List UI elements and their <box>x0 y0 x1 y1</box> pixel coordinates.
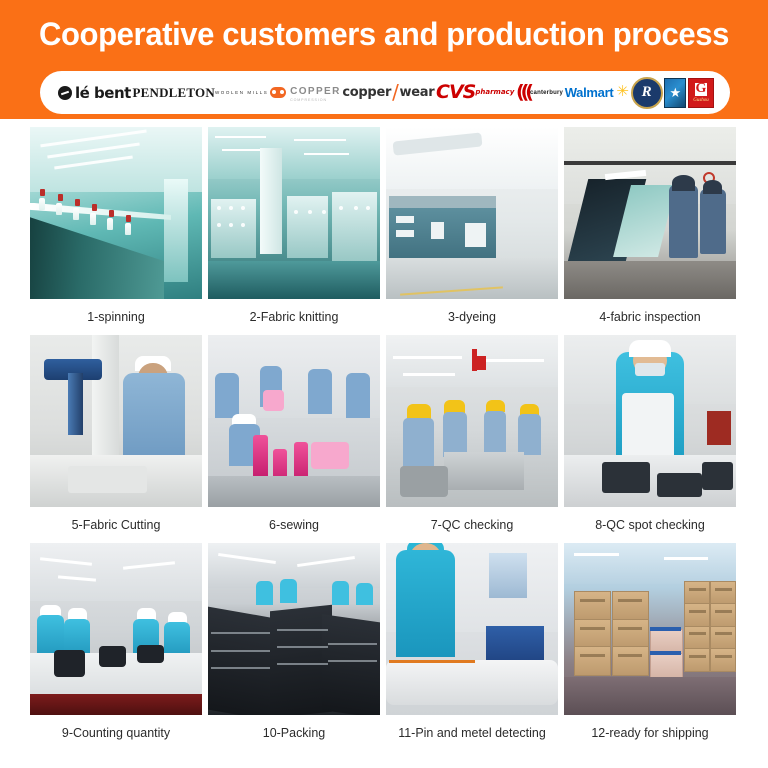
logo-copperwear[interactable]: copper / wear <box>342 77 434 109</box>
logo-cvs-pharmacy[interactable]: CVS pharmacy <box>436 77 514 109</box>
process-image-1[interactable] <box>30 127 202 299</box>
process-step-9: 9-Counting quantity <box>30 543 202 751</box>
process-step-7: 7-QC checking <box>386 335 558 543</box>
process-caption-5: 5-Fabric Cutting <box>33 507 198 543</box>
process-step-4: 4-fabric inspection <box>564 127 736 335</box>
process-step-8: 8-QC spot checking <box>564 335 736 543</box>
process-caption-10: 10-Packing <box>211 715 376 751</box>
process-caption-8: 8-QC spot checking <box>567 507 732 543</box>
walmart-spark-icon: ✳ <box>616 84 629 99</box>
logo-r-badge[interactable]: R <box>631 77 663 109</box>
logo-r-badge-label: R <box>642 84 652 101</box>
logo-lebent[interactable]: lé bent <box>58 77 131 109</box>
logo-copperwear-label-left: copper <box>342 85 391 100</box>
process-caption-3: 3-dyeing <box>389 299 554 335</box>
process-step-3: 3-dyeing <box>386 127 558 335</box>
process-image-12[interactable] <box>564 543 736 715</box>
logo-g-badge[interactable]: G Gushou <box>688 78 714 108</box>
process-step-10: 10-Packing <box>208 543 380 751</box>
process-step-11: 11-Pin and metel detecting <box>386 543 558 751</box>
logo-g-badge-sublabel: Gushou <box>693 98 709 103</box>
process-caption-9: 9-Counting quantity <box>33 715 198 751</box>
process-step-5: 5-Fabric Cutting <box>30 335 202 543</box>
process-image-8[interactable] <box>564 335 736 507</box>
logo-cvs-label: CVS <box>436 83 475 102</box>
logo-copper-label: COPPER <box>290 86 341 97</box>
process-caption-1: 1-spinning <box>33 299 198 335</box>
logo-walmart-label: Walmart <box>565 85 614 100</box>
process-step-1: 1-spinning <box>30 127 202 335</box>
page-title: Cooperative customers and production pro… <box>12 14 757 54</box>
process-caption-4: 4-fabric inspection <box>567 299 732 335</box>
process-image-2[interactable] <box>208 127 380 299</box>
logo-copper-sublabel: COMPRESSION <box>290 99 341 103</box>
copper-loop-icon <box>270 87 286 98</box>
process-caption-12: 12-ready for shipping <box>567 715 732 751</box>
process-image-11[interactable] <box>386 543 558 715</box>
process-image-5[interactable] <box>30 335 202 507</box>
process-image-9[interactable] <box>30 543 202 715</box>
process-step-12: 12-ready for shipping <box>564 543 736 751</box>
process-image-6[interactable] <box>208 335 380 507</box>
logo-g-badge-label: G <box>695 83 707 96</box>
logo-copper[interactable]: COPPER COMPRESSION <box>270 77 341 109</box>
process-caption-6: 6-sewing <box>211 507 376 543</box>
canterbury-chevrons-icon: ((( <box>516 83 530 102</box>
logo-pendleton[interactable]: PENDLETON WOOLEN MILLS <box>132 77 268 109</box>
logo-lebent-label: lé bent <box>75 84 131 102</box>
logo-copperwear-label-right: wear <box>400 85 435 100</box>
star-icon: ★ <box>670 86 682 99</box>
process-step-6: 6-sewing <box>208 335 380 543</box>
logo-copperwear-separator: / <box>392 80 398 104</box>
process-image-10[interactable] <box>208 543 380 715</box>
logo-pendleton-sublabel: WOOLEN MILLS <box>215 91 268 96</box>
logo-pendleton-label: PENDLETON <box>132 86 214 99</box>
process-caption-11: 11-Pin and metel detecting <box>389 715 554 751</box>
lebent-swoosh-icon <box>58 86 72 100</box>
process-image-7[interactable] <box>386 335 558 507</box>
process-image-4[interactable] <box>564 127 736 299</box>
logo-star-badge[interactable]: ★ <box>664 78 686 108</box>
customer-logo-bar: lé bent PENDLETON WOOLEN MILLS COPPER CO… <box>40 71 730 114</box>
logo-cvs-sublabel: pharmacy <box>475 89 514 96</box>
logo-canterbury-label: canterbury <box>530 90 563 96</box>
production-process-grid: 1-spinning <box>30 127 738 751</box>
process-image-3[interactable] <box>386 127 558 299</box>
process-caption-7: 7-QC checking <box>389 507 554 543</box>
process-caption-2: 2-Fabric knitting <box>211 299 376 335</box>
process-step-2: 2-Fabric knitting <box>208 127 380 335</box>
logo-walmart[interactable]: Walmart ✳ <box>565 77 629 109</box>
logo-canterbury[interactable]: ((( canterbury <box>516 77 563 109</box>
page-root: Cooperative customers and production pro… <box>0 0 768 768</box>
header-banner: Cooperative customers and production pro… <box>0 0 768 119</box>
